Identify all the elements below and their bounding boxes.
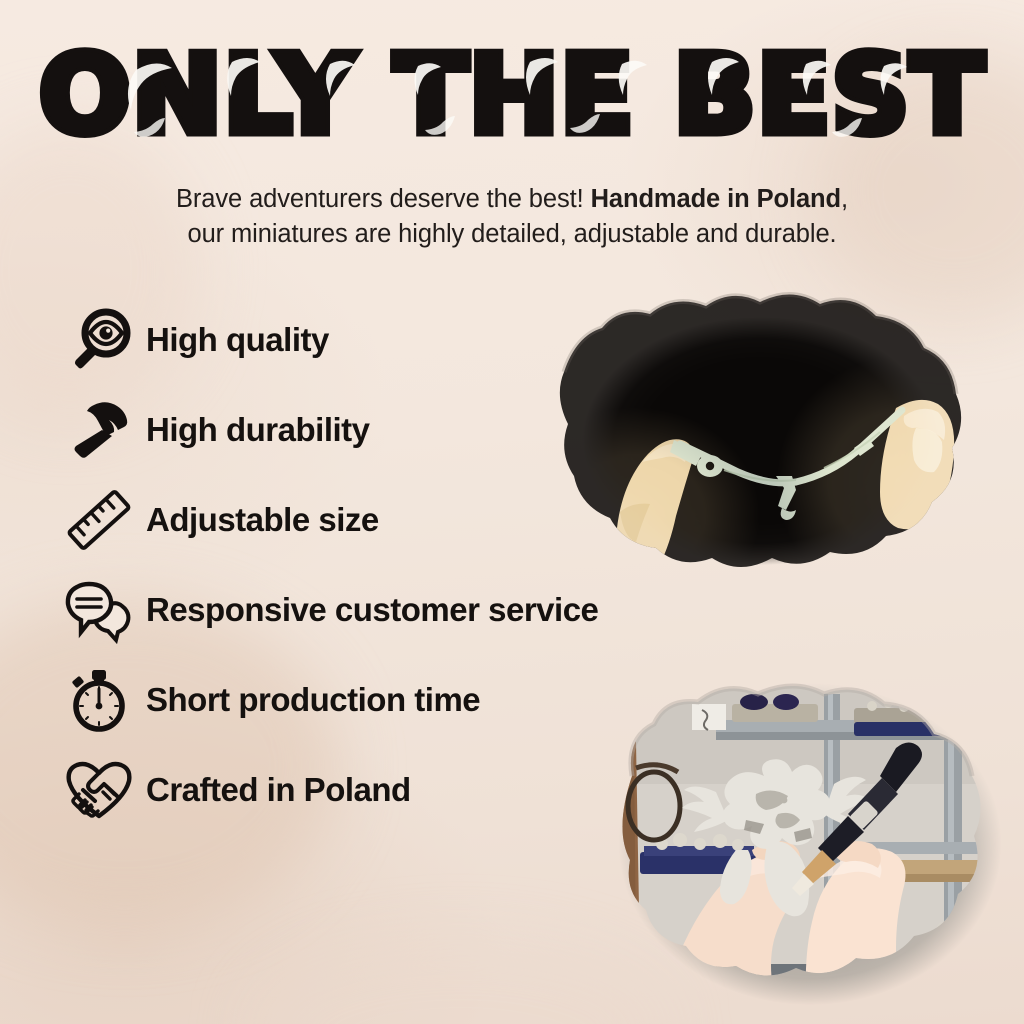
subtitle: Brave adventurers deserve the best! Hand… (72, 182, 952, 252)
subtitle-suffix: , (841, 185, 848, 213)
hammer-icon (62, 397, 136, 463)
feature-label: Adjustable size (146, 501, 379, 539)
magnifier-eye-icon (62, 307, 136, 373)
feature-label: Short production time (146, 681, 480, 719)
heart-handshake-icon (62, 757, 136, 823)
painting-workshop-photo-content (596, 664, 1024, 1024)
ruler-icon (62, 487, 136, 553)
feature-label: High quality (146, 321, 329, 359)
subtitle-prefix: Brave adventurers deserve the best! (176, 185, 584, 213)
page-title: ONLY THE BEST (0, 44, 1024, 148)
subtitle-bold-phrase: Handmade in Poland (591, 185, 841, 213)
promo-poster: ONLY THE BEST Brave adventurers (0, 0, 1024, 1024)
feature-label: High durability (146, 411, 370, 449)
subtitle-line-2: our miniatures are highly detailed, adju… (187, 220, 836, 248)
speech-bubbles-icon (62, 577, 136, 643)
feature-label: Crafted in Poland (146, 771, 411, 809)
subtitle-line-1: Brave adventurers deserve the best! Hand… (176, 185, 848, 213)
flexible-miniature-photo (524, 276, 996, 606)
page-title-text: ONLY THE BEST (39, 33, 985, 158)
painting-workshop-photo (596, 664, 1024, 1024)
stopwatch-icon (62, 667, 136, 733)
flexible-miniature-photo-content (524, 276, 996, 606)
